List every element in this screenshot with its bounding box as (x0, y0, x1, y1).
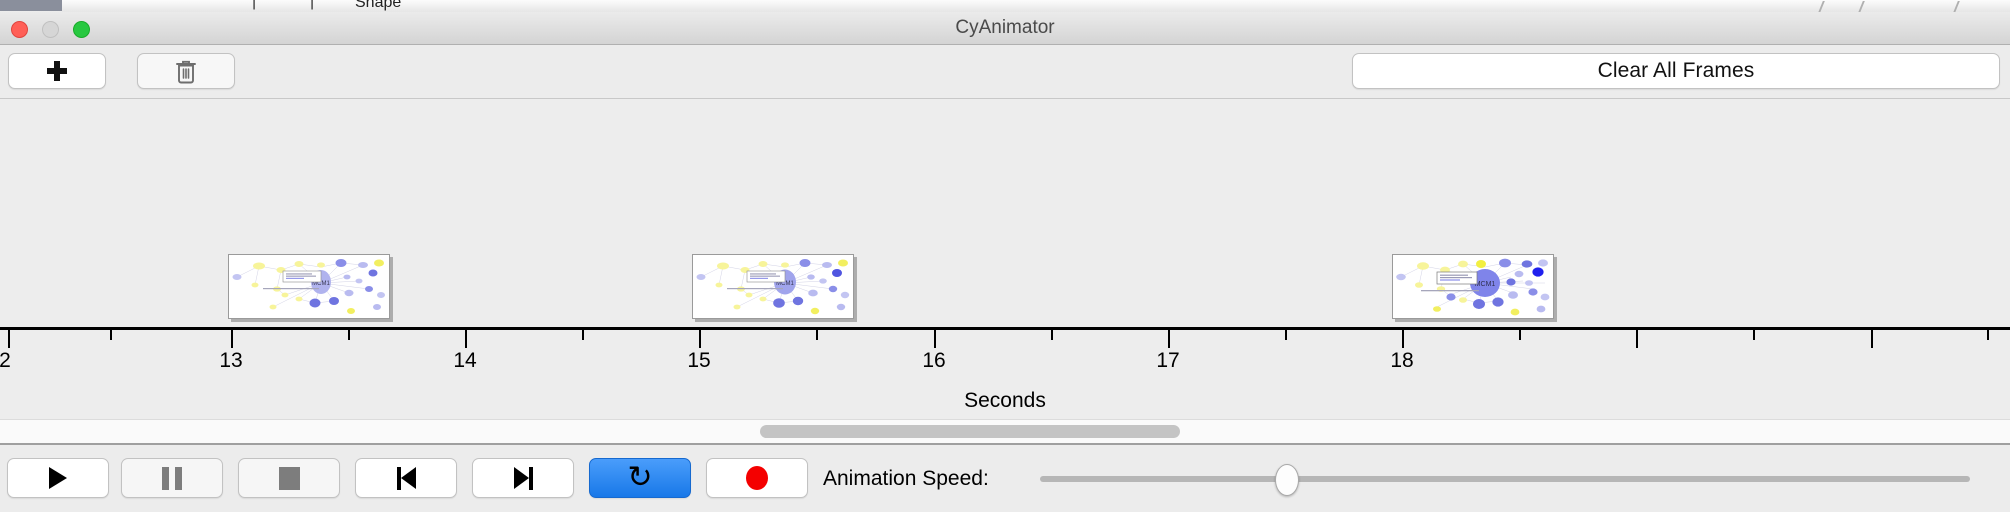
background-segment (62, 0, 243, 12)
ruler-tick-minor (348, 330, 350, 340)
ruler-tick-major (1871, 330, 1873, 348)
network-graph-preview: MCM1 (229, 255, 389, 318)
playback-bar: ↻ Animation Speed: (0, 444, 2010, 512)
title-bar: CyAnimator (0, 12, 2010, 45)
step-forward-button[interactable] (472, 458, 574, 498)
add-frame-button[interactable] (8, 53, 106, 89)
ruler-tick-major (1636, 330, 1638, 348)
plus-icon (47, 61, 67, 81)
pause-icon (162, 467, 182, 490)
loop-button[interactable]: ↻ (589, 458, 691, 498)
ruler-label: 15 (687, 349, 710, 373)
animation-speed-slider[interactable] (1040, 476, 1970, 482)
timeline-pane: MCM1 (0, 99, 2010, 444)
ruler-label: 18 (1390, 349, 1413, 373)
frame-thumbnail-3[interactable]: MCM1 (1392, 254, 1554, 319)
ruler-label: 14 (453, 349, 476, 373)
ruler-tick-major (934, 330, 936, 348)
window-title: CyAnimator (0, 12, 2010, 44)
clear-all-frames-button[interactable]: Clear All Frames (1352, 53, 2000, 89)
timeline-ruler[interactable]: 2 13 14 15 16 17 18 (0, 327, 2010, 387)
ruler-label: 13 (219, 349, 242, 373)
stop-button[interactable] (238, 458, 340, 498)
cyanimator-window: CyAnimator Clear All Frames (0, 12, 2010, 510)
ruler-tick-major (465, 330, 467, 348)
ruler-tick-minor (1987, 330, 1989, 340)
ruler-tick-major (231, 330, 233, 348)
background-segment (930, 0, 2010, 12)
ruler-tick-minor (1285, 330, 1287, 340)
ruler-tick-minor (110, 330, 112, 340)
trash-icon (174, 58, 198, 84)
step-back-button[interactable] (355, 458, 457, 498)
timeline-scrollbar[interactable] (0, 419, 2010, 444)
background-segment (882, 0, 931, 12)
frame-thumbnail-1[interactable]: MCM1 (228, 254, 390, 319)
record-icon (746, 466, 768, 490)
ruler-axis-line (0, 327, 2010, 330)
ruler-tick-minor (1051, 330, 1053, 340)
loop-icon: ↻ (627, 463, 652, 493)
background-bar-glyph: | (252, 0, 256, 11)
axis-title: Seconds (0, 389, 2010, 413)
ruler-tick-minor (1753, 330, 1755, 340)
ruler-tick-minor (816, 330, 818, 340)
ruler-tick-major (1168, 330, 1170, 348)
background-segment (297, 0, 358, 12)
delete-frame-button[interactable] (137, 53, 235, 89)
toolbar: Clear All Frames (0, 45, 2010, 99)
ruler-tick-minor (1519, 330, 1521, 340)
network-graph-preview: MCM1 (693, 255, 853, 318)
frame-thumbnail-2[interactable]: MCM1 (692, 254, 854, 319)
ruler-tick-major (8, 330, 10, 348)
ruler-label: 17 (1156, 349, 1179, 373)
background-window-highlight (0, 0, 62, 11)
background-segment (242, 0, 298, 12)
pause-button[interactable] (121, 458, 223, 498)
timeline-scrollbar-thumb[interactable] (760, 425, 1180, 438)
animation-speed-label: Animation Speed: (823, 467, 989, 491)
ruler-label: 2 (0, 349, 11, 373)
svg-text:MCM1: MCM1 (1475, 281, 1496, 288)
ruler-label: 16 (922, 349, 945, 373)
ruler-tick-minor (582, 330, 584, 340)
skip-start-icon (397, 467, 416, 490)
stop-icon (279, 467, 300, 490)
record-button[interactable] (706, 458, 808, 498)
ruler-tick-major (699, 330, 701, 348)
skip-end-icon (514, 467, 533, 490)
background-bar-glyph: | (310, 0, 314, 11)
background-segment (522, 0, 883, 12)
ruler-tick-major (1402, 330, 1404, 348)
play-icon (49, 467, 67, 489)
network-graph-preview: MCM1 (1393, 255, 1553, 318)
play-button[interactable] (7, 458, 109, 498)
animation-speed-slider-thumb[interactable] (1275, 464, 1299, 496)
background-window-label: Shape (355, 0, 401, 12)
